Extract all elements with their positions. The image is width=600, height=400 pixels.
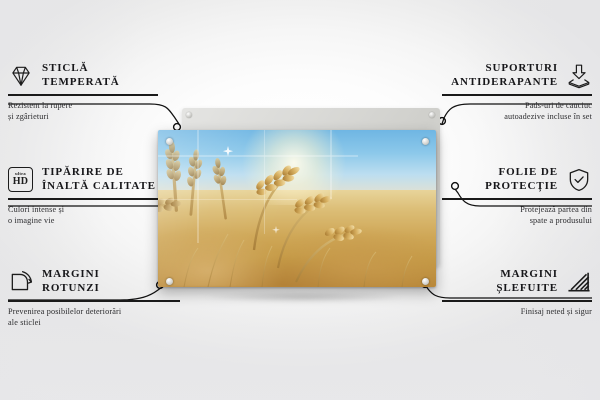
feature-protective-film[interactable]: FOLIE DE PROTECȚIE Protejează partea din… xyxy=(442,166,592,227)
feature-description: Culori intense și o imagine vie xyxy=(8,204,158,227)
diamond-icon xyxy=(8,63,34,89)
feature-header: MARGINI ROTUNZI xyxy=(8,268,180,295)
feature-title: FOLIE DE PROTECȚIE xyxy=(485,166,558,193)
feature-high-quality-print[interactable]: ultra HD TIPĂRIRE DE ÎNALTĂ CALITATE Cul… xyxy=(8,166,158,227)
wheat-field-photo xyxy=(158,130,436,287)
feature-description: Protejează partea din spate a produsului xyxy=(442,204,592,227)
hatch-lines-icon xyxy=(566,269,592,295)
feature-title: MARGINI ROTUNZI xyxy=(42,268,100,295)
feature-divider xyxy=(442,198,592,199)
feature-anti-slip-supports[interactable]: SUPORTURI ANTIDERAPANTE Pads-uri de cauc… xyxy=(442,62,592,123)
product-shadow xyxy=(164,290,442,304)
ultra-hd-icon-main-label: HD xyxy=(13,177,28,187)
feature-divider xyxy=(8,198,158,199)
feature-description: Finisaj neted și sigur xyxy=(442,306,592,318)
glass-stud-br xyxy=(422,278,429,285)
feature-description: Prevenirea posibilelor deteriorări ale s… xyxy=(8,306,180,329)
feature-divider xyxy=(442,94,592,95)
feature-divider xyxy=(8,94,158,95)
rounded-corner-icon xyxy=(8,269,34,295)
feature-header: SUPORTURI ANTIDERAPANTE xyxy=(442,62,592,89)
feature-header: MARGINI ȘLEFUITE xyxy=(442,268,592,295)
tempered-glass-board xyxy=(158,130,436,287)
glass-stud-tr xyxy=(422,138,429,145)
panel-stud-tr xyxy=(429,112,435,118)
feature-header: STICLĂ TEMPERATĂ xyxy=(8,62,158,89)
wheat-ears-illustration xyxy=(158,130,436,287)
feature-title: MARGINI ȘLEFUITE xyxy=(496,268,558,295)
feature-title: SUPORTURI ANTIDERAPANTE xyxy=(451,62,558,89)
feature-title: STICLĂ TEMPERATĂ xyxy=(42,62,120,89)
glass-stud-tl xyxy=(166,138,173,145)
product-image xyxy=(150,100,470,310)
shield-check-icon xyxy=(566,167,592,193)
ultra-hd-icon: ultra HD xyxy=(8,167,34,193)
feature-description: Pads-uri de cauciuc autoadezive incluse … xyxy=(442,100,592,123)
feature-description: Rezistent la rupere și zgârieturi xyxy=(8,100,158,123)
feature-polished-edges[interactable]: MARGINI ȘLEFUITE Finisaj neted și sigur xyxy=(442,268,592,317)
feature-header: ultra HD TIPĂRIRE DE ÎNALTĂ CALITATE xyxy=(8,166,158,193)
feature-title: TIPĂRIRE DE ÎNALTĂ CALITATE xyxy=(42,166,156,193)
feature-divider xyxy=(8,300,180,301)
feature-tempered-glass[interactable]: STICLĂ TEMPERATĂ Rezistent la rupere și … xyxy=(8,62,158,123)
feature-divider xyxy=(442,300,592,301)
feature-header: FOLIE DE PROTECȚIE xyxy=(442,166,592,193)
press-pad-icon xyxy=(566,63,592,89)
panel-stud-tl xyxy=(186,112,192,118)
feature-rounded-edges[interactable]: MARGINI ROTUNZI Prevenirea posibilelor d… xyxy=(8,268,180,329)
